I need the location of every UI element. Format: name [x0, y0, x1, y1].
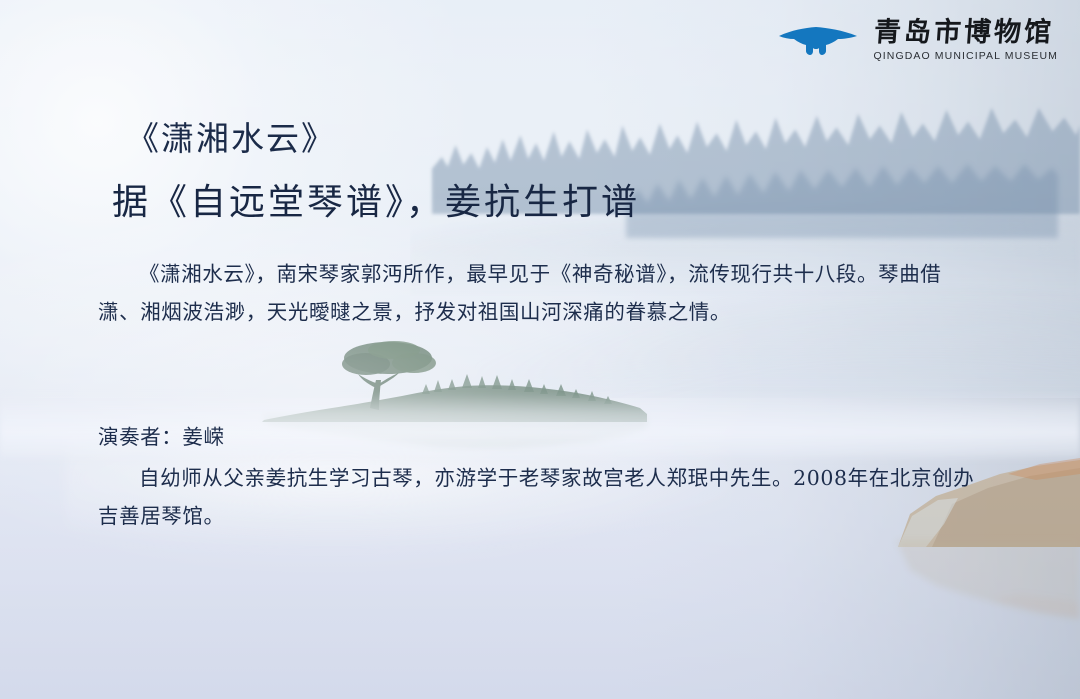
presentation-slide: 青岛市博物馆 QINGDAO MUNICIPAL MUSEUM 《潇湘水云》 据…: [0, 0, 1080, 699]
performer-bio-paragraph: 自幼师从父亲姜抗生学习古琴，亦游学于老琴家故宫老人郑珉中先生。2008年在北京创…: [98, 459, 978, 535]
piece-source-subtitle: 据《自远堂琴谱》，姜抗生打谱: [112, 180, 640, 225]
piece-description-paragraph: 《潇湘水云》，南宋琴家郭沔所作，最早见于《神奇秘谱》，流传现行共十八段。琴曲借潇…: [98, 255, 978, 331]
slide-content: 《潇湘水云》 据《自远堂琴谱》，姜抗生打谱 《潇湘水云》，南宋琴家郭沔所作，最早…: [0, 0, 1080, 699]
piece-title: 《潇湘水云》: [126, 118, 336, 159]
performer-label: 演奏者：姜嵘: [98, 420, 225, 450]
